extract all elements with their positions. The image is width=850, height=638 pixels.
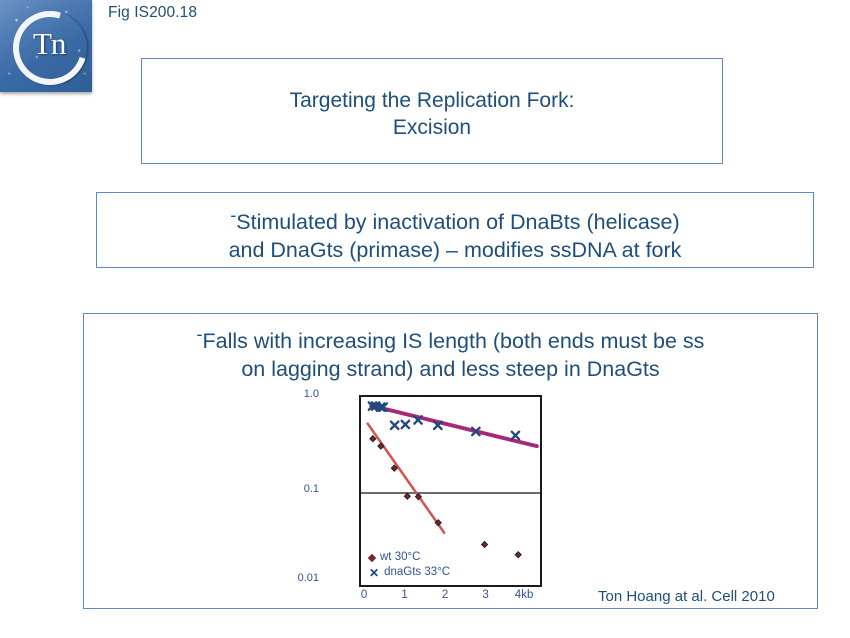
x-axis-tick-4kb: 4kb — [515, 589, 534, 601]
excision-frequency-chart: 1.0 0.1 0.01 wt 30°C ✕ dnaGts 33°C 0 1 2… — [321, 392, 543, 588]
title-text: Targeting the Replication Fork: Excision — [142, 59, 722, 142]
bullet-1-line-1-text: Stimulated by inactivation of DnaBts (he… — [236, 210, 679, 234]
tn-logo: Tn — [0, 0, 92, 92]
legend-label-wt: wt 30°C — [380, 550, 420, 566]
bullet-1-text: -Stimulated by inactivation of DnaBts (h… — [97, 193, 813, 264]
y-axis-tick-0_01: 0.01 — [298, 572, 319, 584]
x-axis-tick-2: 2 — [442, 589, 448, 601]
title-line-1: Targeting the Replication Fork: — [142, 88, 722, 115]
diamond-marker-icon — [368, 553, 376, 561]
chart-legend: wt 30°C ✕ dnaGts 33°C — [369, 550, 450, 581]
bullet-box-falls-with-length: -Falls with increasing IS length (both e… — [83, 313, 818, 609]
bullet-1-line-1: -Stimulated by inactivation of DnaBts (h… — [97, 204, 813, 237]
legend-item-wt: wt 30°C — [369, 550, 450, 566]
plot-area: wt 30°C ✕ dnaGts 33°C — [359, 395, 542, 587]
bullet-2-text: -Falls with increasing IS length (both e… — [84, 314, 817, 383]
figure-label: Fig IS200.18 — [108, 4, 197, 22]
y-axis-tick-0_1: 0.1 — [304, 483, 319, 495]
y-axis-tick-1: 1.0 — [304, 388, 319, 400]
legend-item-dnagts: ✕ dnaGts 33°C — [369, 565, 450, 581]
title-box: Targeting the Replication Fork: Excision — [141, 58, 723, 164]
bullet-1-line-2: and DnaGts (primase) – modifies ssDNA at… — [97, 237, 813, 265]
citation-text: Ton Hoang at al. Cell 2010 — [598, 588, 775, 605]
bullet-2-line-1: -Falls with increasing IS length (both e… — [84, 323, 817, 356]
bullet-2-line-2: on lagging strand) and less steep in Dna… — [84, 356, 817, 384]
title-line-2: Excision — [142, 115, 722, 142]
legend-label-dnagts: dnaGts 33°C — [384, 565, 450, 581]
x-axis-tick-1: 1 — [401, 589, 407, 601]
logo-tn-text: Tn — [33, 26, 65, 62]
bullet-box-stimulated: -Stimulated by inactivation of DnaBts (h… — [96, 192, 814, 268]
bullet-2-line-1-text: Falls with increasing IS length (both en… — [203, 329, 705, 353]
x-axis-tick-3: 3 — [482, 589, 488, 601]
x-axis-tick-0: 0 — [361, 589, 367, 601]
cross-marker-icon: ✕ — [369, 567, 379, 579]
